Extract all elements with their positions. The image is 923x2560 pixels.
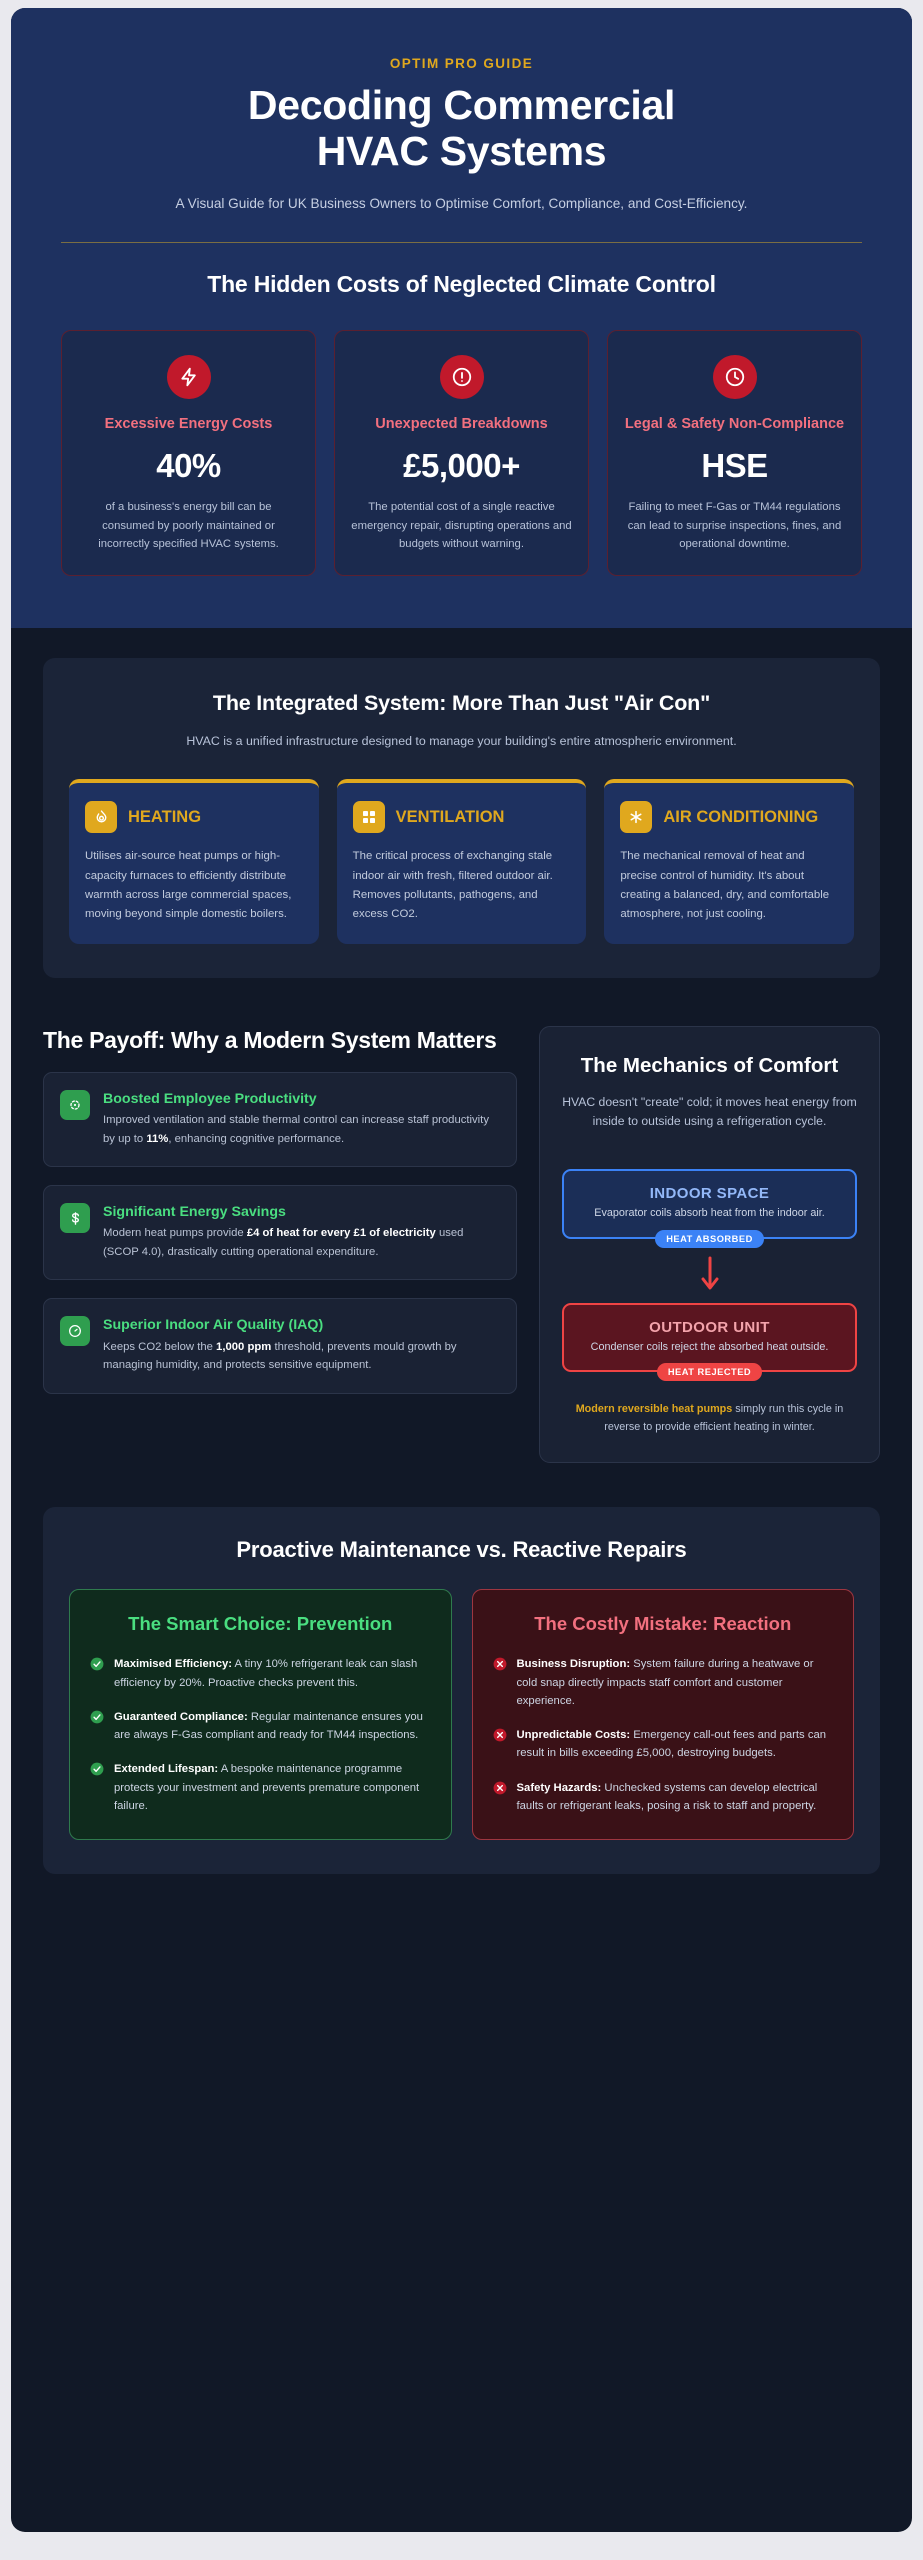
heat-absorbed-chip: HEAT ABSORBED <box>655 1230 764 1248</box>
sparkle-icon <box>60 1090 90 1120</box>
page-title: Decoding Commercial HVAC Systems <box>61 83 862 175</box>
compare-band: Proactive Maintenance vs. Reactive Repai… <box>11 1493 912 1914</box>
stat-description: of a business's energy bill can be consu… <box>78 498 299 553</box>
x-circle-icon <box>493 1728 507 1742</box>
pillar-body: The critical process of exchanging stale… <box>353 847 571 924</box>
pillar-card: AIR CONDITIONING The mechanical removal … <box>604 779 854 944</box>
flame-icon <box>85 801 117 833</box>
costly-mistake-card: The Costly Mistake: Reaction Business Di… <box>472 1589 855 1840</box>
heat-rejected-chip: HEAT REJECTED <box>657 1363 762 1381</box>
mechanics-panel: The Mechanics of Comfort HVAC doesn't "c… <box>539 1026 880 1463</box>
benefit-content: Boosted Employee Productivity Improved v… <box>103 1090 500 1148</box>
stat-card: Legal & Safety Non-Compliance HSE Failin… <box>607 330 862 576</box>
snowflake-icon <box>620 801 652 833</box>
list-item: Unpredictable Costs: Emergency call-out … <box>493 1726 834 1763</box>
list-item-bold: Extended Lifespan: <box>114 1763 218 1775</box>
mechanics-subtitle: HVAC doesn't "create" cold; it moves hea… <box>562 1093 857 1132</box>
flow-arrow-down-icon <box>562 1254 857 1299</box>
stat-card: Unexpected Breakdowns £5,000+ The potent… <box>334 330 589 576</box>
list-item: Maximised Efficiency: A tiny 10% refrige… <box>90 1655 431 1692</box>
mechanics-footnote-bold: Modern reversible heat pumps <box>576 1403 733 1415</box>
alert-circle-icon <box>440 355 484 399</box>
list-item: Safety Hazards: Unchecked systems can de… <box>493 1779 834 1816</box>
clock-icon <box>713 355 757 399</box>
list-item-text: Unpredictable Costs: Emergency call-out … <box>517 1726 834 1763</box>
benefit-title: Significant Energy Savings <box>103 1203 500 1221</box>
heat-absorbed-chip-wrap: HEAT ABSORBED <box>562 1229 857 1248</box>
compare-panel: Proactive Maintenance vs. Reactive Repai… <box>43 1507 880 1874</box>
heat-rejected-chip-wrap: HEAT REJECTED <box>562 1362 857 1381</box>
benefit-content: Significant Energy Savings Modern heat p… <box>103 1203 500 1261</box>
outdoor-unit-name: OUTDOOR UNIT <box>576 1319 843 1336</box>
stat-value: 40% <box>78 447 299 485</box>
smart-choice-card: The Smart Choice: Prevention Maximised E… <box>69 1589 452 1840</box>
benefit-text-bold: 11% <box>146 1133 168 1145</box>
hidden-costs-title: The Hidden Costs of Neglected Climate Co… <box>61 271 862 298</box>
integrated-title: The Integrated System: More Than Just "A… <box>69 690 854 718</box>
stat-description: The potential cost of a single reactive … <box>351 498 572 553</box>
benefit-card: Boosted Employee Productivity Improved v… <box>43 1072 517 1167</box>
x-circle-icon <box>493 1781 507 1795</box>
benefit-title: Boosted Employee Productivity <box>103 1090 500 1108</box>
payoff-mechanics-band: The Payoff: Why a Modern System Matters … <box>11 1008 912 1493</box>
smart-choice-title: The Smart Choice: Prevention <box>90 1612 431 1635</box>
stat-card-row: Excessive Energy Costs 40% of a business… <box>61 330 862 576</box>
integrated-subtitle: HVAC is a unified infrastructure designe… <box>142 732 782 751</box>
infographic-shell: OPTIM PRO GUIDE Decoding Commercial HVAC… <box>11 8 912 2532</box>
hero-spacer <box>61 243 862 271</box>
benefit-text: Modern heat pumps provide £4 of heat for… <box>103 1224 500 1261</box>
x-circle-icon <box>493 1657 507 1671</box>
benefit-content: Superior Indoor Air Quality (IAQ) Keeps … <box>103 1316 500 1374</box>
benefit-card: Significant Energy Savings Modern heat p… <box>43 1185 517 1280</box>
mechanics-title: The Mechanics of Comfort <box>562 1053 857 1079</box>
pillar-body: Utilises air-source heat pumps or high-c… <box>85 847 303 924</box>
mechanics-column: The Mechanics of Comfort HVAC doesn't "c… <box>539 1026 880 1463</box>
hero-kicker: OPTIM PRO GUIDE <box>61 48 862 71</box>
hero-subtitle: A Visual Guide for UK Business Owners to… <box>112 194 812 215</box>
stat-label: Unexpected Breakdowns <box>351 415 572 434</box>
hero-title-line2: HVAC Systems <box>61 129 862 175</box>
infographic-page: OPTIM PRO GUIDE Decoding Commercial HVAC… <box>0 0 923 2560</box>
pillar-card: HEATING Utilises air-source heat pumps o… <box>69 779 319 944</box>
list-item: Guaranteed Compliance: Regular maintenan… <box>90 1708 431 1745</box>
payoff-title: The Payoff: Why a Modern System Matters <box>43 1026 517 1054</box>
smart-choice-list: Maximised Efficiency: A tiny 10% refrige… <box>90 1655 431 1815</box>
compare-row: The Smart Choice: Prevention Maximised E… <box>69 1589 854 1840</box>
list-item: Extended Lifespan: A bespoke maintenance… <box>90 1760 431 1815</box>
benefit-text-pre: Modern heat pumps provide <box>103 1227 247 1239</box>
list-item-text: Guaranteed Compliance: Regular maintenan… <box>114 1708 431 1745</box>
list-item-bold: Guaranteed Compliance: <box>114 1711 248 1723</box>
bolt-icon <box>167 355 211 399</box>
list-item: Business Disruption: System failure duri… <box>493 1655 834 1710</box>
benefit-text-post: , enhancing cognitive performance. <box>168 1133 344 1145</box>
integrated-system-band: The Integrated System: More Than Just "A… <box>11 628 912 1008</box>
benefit-card: Superior Indoor Air Quality (IAQ) Keeps … <box>43 1298 517 1393</box>
hero-section: OPTIM PRO GUIDE Decoding Commercial HVAC… <box>11 8 912 271</box>
stat-card: Excessive Energy Costs 40% of a business… <box>61 330 316 576</box>
list-item-bold: Unpredictable Costs: <box>517 1729 631 1741</box>
list-item-bold: Maximised Efficiency: <box>114 1658 232 1670</box>
pillar-body: The mechanical removal of heat and preci… <box>620 847 838 924</box>
mechanics-footnote: Modern reversible heat pumps simply run … <box>562 1401 857 1436</box>
compare-title: Proactive Maintenance vs. Reactive Repai… <box>69 1537 854 1563</box>
benefit-text-bold: 1,000 ppm <box>216 1341 271 1353</box>
benefit-text-pre: Keeps CO2 below the <box>103 1341 216 1353</box>
pillar-name: HEATING <box>128 808 201 826</box>
stat-label: Excessive Energy Costs <box>78 415 299 434</box>
costly-mistake-list: Business Disruption: System failure duri… <box>493 1655 834 1815</box>
list-item-text: Business Disruption: System failure duri… <box>517 1655 834 1710</box>
stat-label: Legal & Safety Non-Compliance <box>624 415 845 434</box>
dollar-icon <box>60 1203 90 1233</box>
payoff-column: The Payoff: Why a Modern System Matters … <box>43 1026 517 1394</box>
integrated-system-panel: The Integrated System: More Than Just "A… <box>43 658 880 978</box>
benefit-text: Improved ventilation and stable thermal … <box>103 1111 500 1148</box>
hero-title-line1: Decoding Commercial <box>61 83 862 129</box>
list-item-text: Extended Lifespan: A bespoke maintenance… <box>114 1760 431 1815</box>
indoor-space-desc: Evaporator coils absorb heat from the in… <box>576 1206 843 1222</box>
benefit-text: Keeps CO2 below the 1,000 ppm threshold,… <box>103 1338 500 1375</box>
costly-mistake-title: The Costly Mistake: Reaction <box>493 1612 834 1635</box>
check-circle-icon <box>90 1710 104 1724</box>
stat-value: HSE <box>624 447 845 485</box>
gauge-icon <box>60 1316 90 1346</box>
indoor-space-name: INDOOR SPACE <box>576 1185 843 1202</box>
list-item-text: Maximised Efficiency: A tiny 10% refrige… <box>114 1655 431 1692</box>
check-circle-icon <box>90 1762 104 1776</box>
pillar-name: AIR CONDITIONING <box>663 808 818 826</box>
outdoor-unit-desc: Condenser coils reject the absorbed heat… <box>576 1340 843 1356</box>
pillar-header: HEATING <box>85 801 303 833</box>
pillar-name: VENTILATION <box>396 808 505 826</box>
benefit-title: Superior Indoor Air Quality (IAQ) <box>103 1316 500 1334</box>
list-item-bold: Business Disruption: <box>517 1658 631 1670</box>
pillar-row: HEATING Utilises air-source heat pumps o… <box>69 779 854 944</box>
refrigeration-flow-diagram: INDOOR SPACE Evaporator coils absorb hea… <box>562 1169 857 1381</box>
list-item-text: Safety Hazards: Unchecked systems can de… <box>517 1779 834 1816</box>
hidden-costs-section: The Hidden Costs of Neglected Climate Co… <box>11 271 912 628</box>
stat-description: Failing to meet F-Gas or TM44 regulation… <box>624 498 845 553</box>
stat-value: £5,000+ <box>351 447 572 485</box>
check-circle-icon <box>90 1657 104 1671</box>
pillar-header: AIR CONDITIONING <box>620 801 838 833</box>
pillar-card: VENTILATION The critical process of exch… <box>337 779 587 944</box>
pillar-header: VENTILATION <box>353 801 571 833</box>
grid-icon <box>353 801 385 833</box>
benefit-text-bold: £4 of heat for every £1 of electricity <box>247 1227 436 1239</box>
list-item-bold: Safety Hazards: <box>517 1782 602 1794</box>
